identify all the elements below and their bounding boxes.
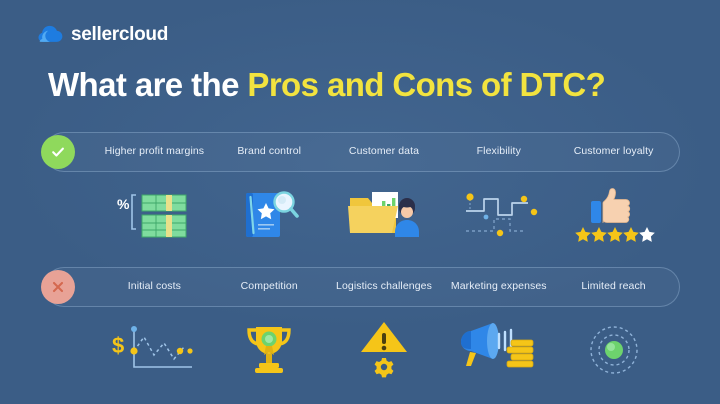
cloud-icon: [38, 22, 64, 48]
cons-capsule: Initial costs Competition Logistics chal…: [44, 267, 680, 307]
pros-capsule: Higher profit margins Brand control Cust…: [44, 132, 680, 172]
pros-label-1: Brand control: [212, 145, 327, 158]
pros-label-2: Customer data: [327, 145, 442, 158]
cons-label-3: Marketing expenses: [441, 280, 556, 293]
cons-section: Initial costs Competition Logistics chal…: [44, 267, 680, 387]
page-title: What are the Pros and Cons of DTC?: [48, 66, 605, 104]
title-highlight: Pros and Cons of DTC?: [247, 66, 605, 103]
percent-spreadsheet-icon: %: [96, 178, 211, 252]
pros-label-3: Flexibility: [441, 145, 556, 158]
cons-label-1: Competition: [212, 280, 327, 293]
cons-label-2: Logistics challenges: [327, 280, 442, 293]
cons-icons: $: [44, 313, 680, 387]
book-star-magnifier-icon: [211, 178, 326, 252]
pros-labels: Higher profit margins Brand control Cust…: [45, 145, 679, 158]
cons-labels: Initial costs Competition Logistics chal…: [45, 280, 679, 293]
radar-reach-icon: [557, 313, 672, 387]
cons-label-0: Initial costs: [97, 280, 212, 293]
brand-name: sellercloud: [71, 24, 168, 46]
brand-logo[interactable]: sellercloud: [38, 22, 168, 48]
dollar-line-chart-icon: $: [96, 313, 211, 387]
pros-section: Higher profit margins Brand control Cust…: [44, 132, 680, 252]
check-circle-icon: [41, 135, 75, 169]
trophy-icon: [211, 313, 326, 387]
svg-text:$: $: [112, 333, 124, 358]
pros-label-0: Higher profit margins: [97, 145, 212, 158]
svg-text:%: %: [117, 196, 130, 212]
megaphone-coins-icon: [442, 313, 557, 387]
network-flow-nodes-icon: [442, 178, 557, 252]
thumbs-up-stars-icon: [557, 178, 672, 252]
x-circle-icon: [41, 270, 75, 304]
pros-label-4: Customer loyalty: [556, 145, 671, 158]
warning-gear-icon: [326, 313, 441, 387]
folder-chart-person-icon: [326, 178, 441, 252]
slide-canvas: sellercloud What are the Pros and Cons o…: [0, 0, 720, 404]
pros-icons: %: [44, 178, 680, 252]
cons-label-4: Limited reach: [556, 280, 671, 293]
title-plain: What are the: [48, 66, 247, 103]
